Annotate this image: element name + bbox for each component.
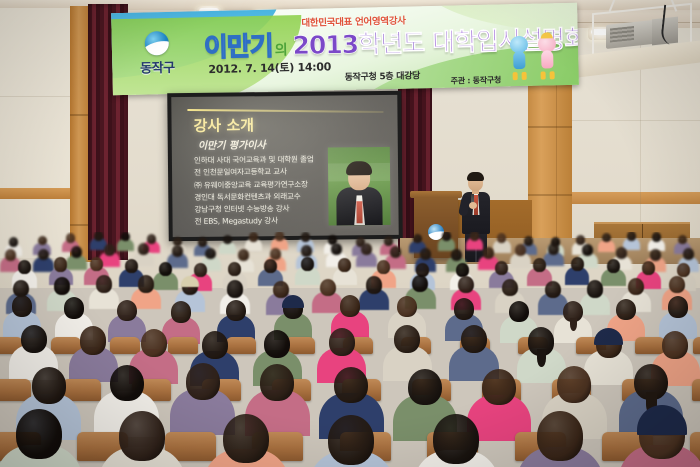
audience-head [202,331,228,359]
audience-head [226,300,246,322]
audience-head [80,326,106,354]
audience-head [495,261,508,275]
dongjak-gu-label: 동작구 [140,56,175,76]
audience-head [587,280,603,297]
dongjak-emblem-icon [145,30,170,55]
audience-head [5,249,16,261]
audience-head [470,232,479,241]
audience-head [616,247,627,259]
audience [0,232,700,467]
audience-head [119,411,165,461]
audience-head [537,411,583,461]
right-wood-pillar-grain [528,60,572,260]
audience-head [238,249,249,261]
audience-head [458,276,474,293]
banner-venue-text: 동작구청 5층 대강당 [344,68,420,83]
audience-head [628,278,644,295]
wall-seam-right [572,120,700,121]
audience-head [147,234,156,244]
audience-head [21,325,47,353]
audience-head [668,296,688,318]
audience-head [334,367,368,404]
slide-bullet: 전 EBS, Megastudy 강사 [195,215,337,229]
left-wall-wood-band [0,188,72,199]
podium-top [410,191,462,198]
audience-head [669,276,685,293]
auditorium-seat [168,337,198,354]
banner-date-text: 2012. 7. 14(토) 14:00 [208,58,331,77]
audience-head [524,236,533,246]
audience-head [260,364,294,401]
audience-head [602,233,611,243]
audience-head [38,236,47,246]
audience-head [9,237,18,247]
auditorium-seat [110,337,140,354]
wall-seam [0,96,72,97]
presentation-slide: 강사 소개 이만기 평가이사 인하대 사대 국어교육과 및 대학원 졸업 전 인… [171,95,398,237]
audience-head [172,245,183,257]
audience-head [454,298,474,320]
event-banner: 동작구 대한민국대표 언어영역강사 이만기 의 2013학년도 대학입시설명회 … [111,3,579,96]
slide-speaker-portrait: Vision [328,147,391,226]
audience-head [66,233,75,243]
audience-head [138,243,149,255]
audience-head [104,244,115,256]
audience-head [270,248,281,260]
audience-head [502,279,518,296]
audience-head [249,232,258,242]
audience-head [54,277,70,294]
audience-head [54,257,67,271]
banner-mascots [508,31,571,80]
audience-head [509,301,529,323]
audience-head [582,244,593,256]
slide-bullet-list: 인하대 사대 국어교육과 및 대학원 졸업 전 인천문일여자고등학교 교사 ㈜ … [194,153,337,228]
audience-head [329,328,355,356]
audience-head [331,243,342,255]
audience-head [94,232,103,241]
audience-head [433,414,479,464]
auditorium-photo: 동작구 대한민국대표 언어영역강사 이만기 의 2013학년도 대학입시설명회 … [0,0,700,467]
audience-head [390,246,401,258]
audience-head [413,234,422,244]
auditorium-seat [693,337,700,354]
audience-head [171,301,191,323]
audience-head [461,325,487,353]
audience-head [683,248,694,260]
audience-head [264,259,277,273]
audience-cap-icon [282,295,304,308]
projection-screen: 강사 소개 이만기 평가이사 인하대 사대 국어교육과 및 대학원 졸업 전 인… [167,91,403,241]
auditorium-seat [0,379,31,401]
slide-title-underline [187,109,383,113]
audience-head [677,263,690,277]
audience-head [223,414,269,464]
audience-head [301,232,310,242]
audience-head [442,232,451,241]
audience-head [340,295,360,317]
audience-head [38,249,49,261]
audience-head [194,263,207,277]
audience-head [141,329,167,357]
audience-head [408,369,442,406]
auditorium-seat [692,379,700,401]
audience-head [301,245,312,257]
audience-head [71,246,82,258]
audience-head [394,325,420,353]
audience-head [125,259,138,273]
audience-head [18,260,31,274]
audience-head [397,296,417,318]
audience-head [616,299,636,321]
audience-head [377,260,390,274]
audience-head [301,257,314,271]
audience-ponytail [570,318,577,331]
banner-particle: 의 [275,39,287,59]
audience-head [186,363,220,400]
audience-cap-icon [181,276,199,286]
audience-head [159,262,172,276]
audience-head [12,295,32,317]
banner-speaker-name: 이만기 [203,26,273,65]
mascot-pink-icon [536,35,559,79]
left-wall-panel [0,8,72,258]
audience-head [338,258,351,272]
audience-head [650,249,661,261]
audience-head [320,279,336,296]
audience-head [515,244,526,256]
audience-head [121,232,130,241]
audience-ponytail [537,349,546,366]
audience-head [533,258,546,272]
slide-subtitle: 이만기 평가이사 [198,136,266,152]
audience-head [228,262,241,276]
banner-host-text: 주관 : 동작구청 [451,74,501,86]
audience-head [264,330,290,358]
audience-head [90,257,103,271]
slide-title: 강사 소개 [193,114,254,136]
audience-head [117,300,137,322]
audience-head [138,275,154,292]
audience-head [451,249,462,261]
audience-head [227,280,243,297]
audience-head [456,263,469,277]
audience-head [571,257,584,271]
audience-head [652,232,661,242]
audience-head [482,369,516,406]
audience-head [64,297,84,319]
banner-year: 2013학년도 [292,23,424,62]
audience-head [198,237,207,247]
audience-head [607,259,620,273]
mascot-blue-icon [508,36,531,80]
audience-head [32,367,66,404]
audience-head [545,281,561,298]
audience-head [627,232,636,241]
auditorium-seat [226,337,256,354]
audience-head [361,243,372,255]
projector-cables [660,5,692,48]
audience-head [16,409,62,459]
audience-head [328,415,374,465]
audience-head [275,232,284,241]
audience-head [96,275,112,292]
auditorium-seat [635,337,665,354]
audience-head [662,331,688,359]
audience-head [110,365,144,402]
audience-head [483,247,494,259]
dongjak-gu-logo: 동작구 [125,24,188,83]
audience-head [366,276,382,293]
audience-head [548,243,559,255]
audience-head [557,366,591,403]
